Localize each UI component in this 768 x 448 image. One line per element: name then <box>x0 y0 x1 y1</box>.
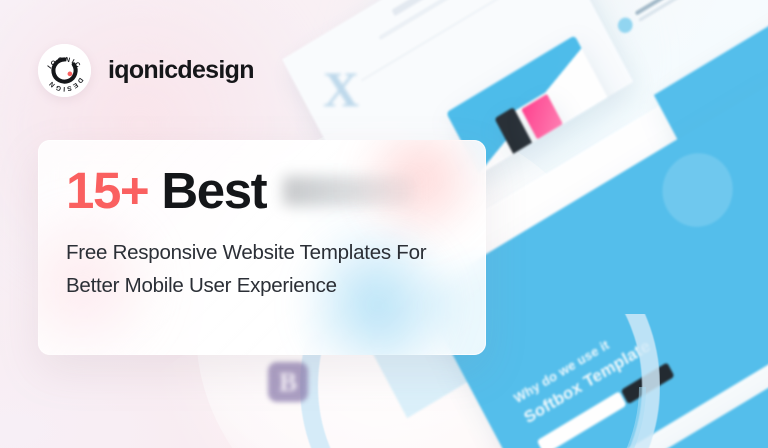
bootstrap-logo-glyph: B <box>268 362 308 402</box>
headline-word: Best <box>161 164 266 217</box>
hero-banner: WE SO Why do we use it Softbox Template <box>0 0 768 448</box>
brand-name: iqonicdesign <box>108 56 254 85</box>
iqonic-ring-logo-icon: IQONIC DESIGN <box>38 44 91 97</box>
hero-headline: 15+ Best <box>66 164 415 217</box>
mockup-feature-item <box>615 0 768 37</box>
hero-glass-card: 15+ Best Free Responsive Website Templat… <box>38 140 486 355</box>
hero-subheadline: Free Responsive Website Templates For Be… <box>66 236 438 302</box>
headline-count: 15+ <box>66 164 148 217</box>
headline-blurred-text <box>283 176 415 206</box>
brand-lockup[interactable]: IQONIC DESIGN iqonicdesign <box>38 44 254 97</box>
